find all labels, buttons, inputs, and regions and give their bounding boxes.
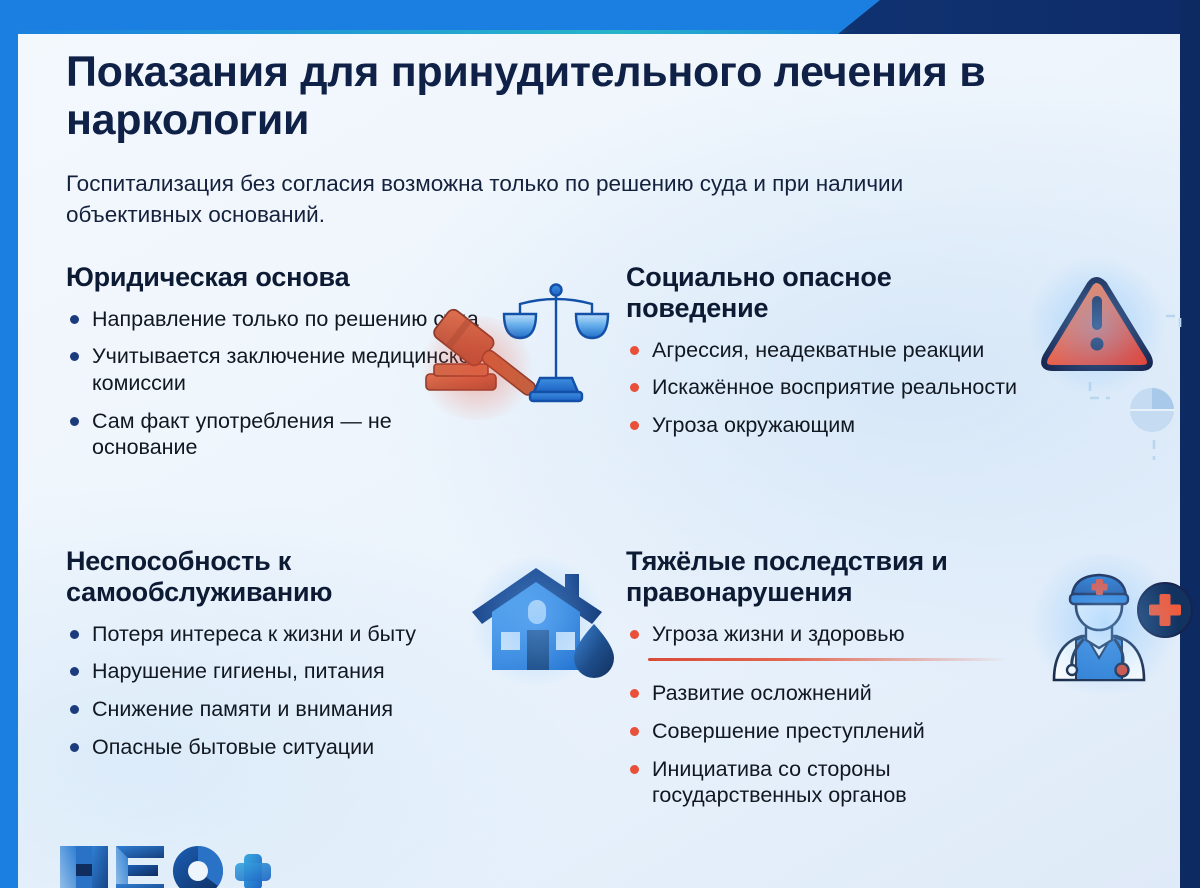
page-subtitle: Госпитализация без согласия возможна тол… — [66, 168, 1026, 230]
list-item: Инициатива со стороны государственных ор… — [626, 756, 1056, 809]
left-frame-bar — [0, 0, 18, 888]
section-heading: Социально опасное поведение — [626, 262, 1026, 324]
list-item: Искажённое восприятие реальности — [626, 374, 1026, 401]
doctor-cross-icon — [1030, 562, 1195, 687]
list-item: Совершение преступлений — [626, 718, 1056, 745]
list-item: Нарушение гигиены, питания — [66, 658, 506, 685]
page-title: Показания для принудительного лечения в … — [66, 48, 1046, 144]
section-divider — [648, 658, 1008, 661]
section-bullet-list-continued: Развитие осложнений Совершение преступле… — [626, 680, 1056, 809]
list-item: Снижение памяти и внимания — [66, 696, 506, 723]
list-item: Сам факт употребления — не основание — [66, 408, 486, 461]
neo-plus-logo — [58, 840, 318, 888]
house-drop-icon — [470, 562, 620, 682]
list-item: Развитие осложнений — [626, 680, 1056, 707]
top-frame-blue — [0, 0, 880, 34]
list-item: Угроза окружающим — [626, 412, 1026, 439]
warning-triangle-icon — [1038, 270, 1198, 470]
gavel-scales-icon — [418, 278, 618, 408]
neo-plus-logo-svg — [58, 840, 318, 888]
list-item: Агрессия, неадекватные реакции — [626, 337, 1026, 364]
list-item: Опасные бытовые ситуации — [66, 734, 506, 761]
section-heading: Тяжёлые последствия и правонарушения — [626, 546, 1056, 608]
section-bullet-list: Агрессия, неадекватные реакции Искажённо… — [626, 337, 1026, 439]
list-item: Угроза жизни и здоровью — [626, 621, 1056, 648]
content-card: Показания для принудительного лечения в … — [18, 34, 1180, 888]
section-bullet-list: Угроза жизни и здоровью — [626, 621, 1056, 648]
infographic-root: Показания для принудительного лечения в … — [0, 0, 1200, 888]
section-severe-consequences: Тяжёлые последствия и правонарушения Угр… — [626, 546, 1056, 820]
list-item: Потеря интереса к жизни и быту — [66, 621, 506, 648]
section-heading: Неспособность к самообслуживанию — [66, 546, 506, 608]
section-inability-selfcare: Неспособность к самообслуживанию Потеря … — [66, 546, 506, 771]
section-bullet-list: Потеря интереса к жизни и быту Нарушение… — [66, 621, 506, 761]
section-socially-dangerous-behavior: Социально опасное поведение Агрессия, не… — [626, 262, 1026, 450]
